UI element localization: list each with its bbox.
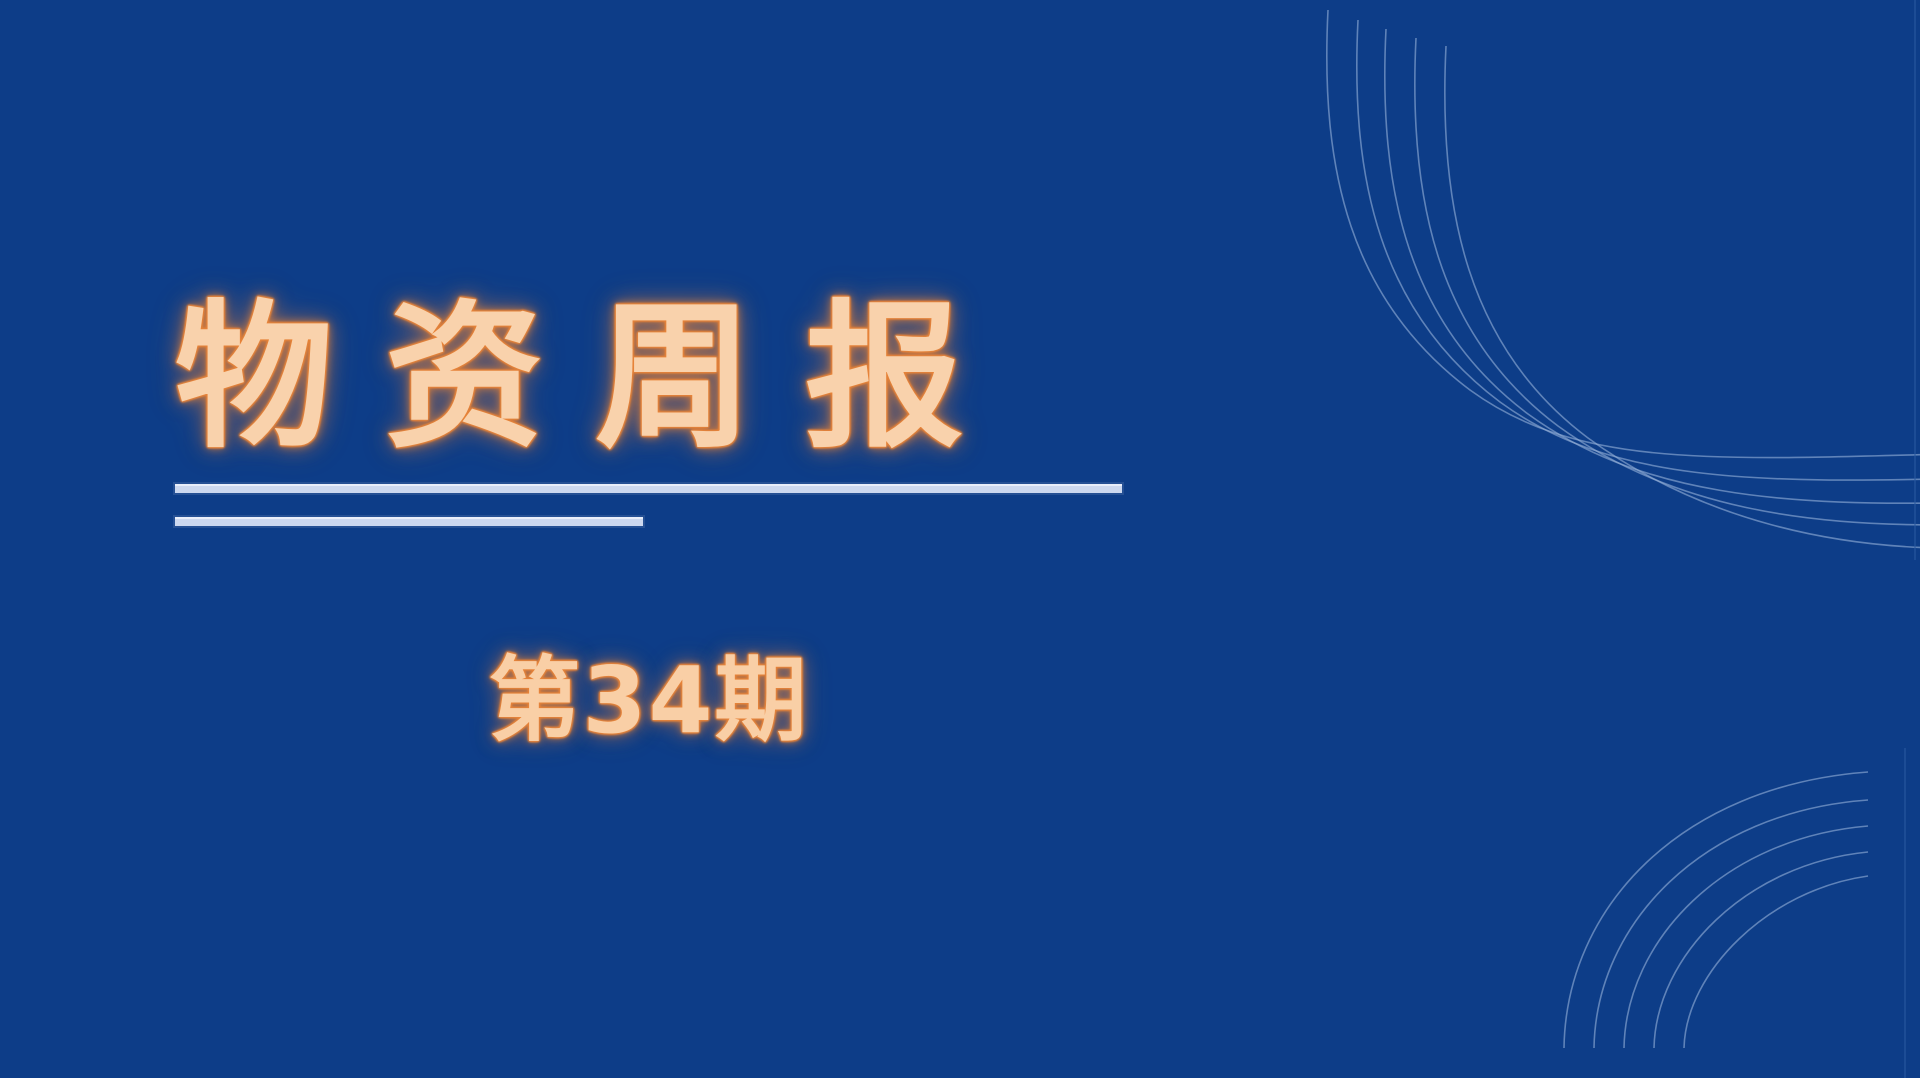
top-right-decoration	[1280, 0, 1920, 560]
short-divider	[175, 517, 643, 526]
divider-group	[175, 484, 1175, 526]
issue-label: 第34期	[488, 648, 808, 754]
headline-block: 物资周报	[175, 296, 1175, 526]
issue-block: 第34期	[175, 648, 1122, 754]
page-title: 物资周报	[175, 296, 1175, 462]
title-slide: 物资周报 第34期	[0, 0, 1920, 1078]
swoosh-lines-icon	[1327, 10, 1920, 548]
long-divider	[175, 484, 1122, 493]
bottom-right-decoration	[1520, 748, 1920, 1078]
arc-lines-icon	[1564, 772, 1868, 1048]
